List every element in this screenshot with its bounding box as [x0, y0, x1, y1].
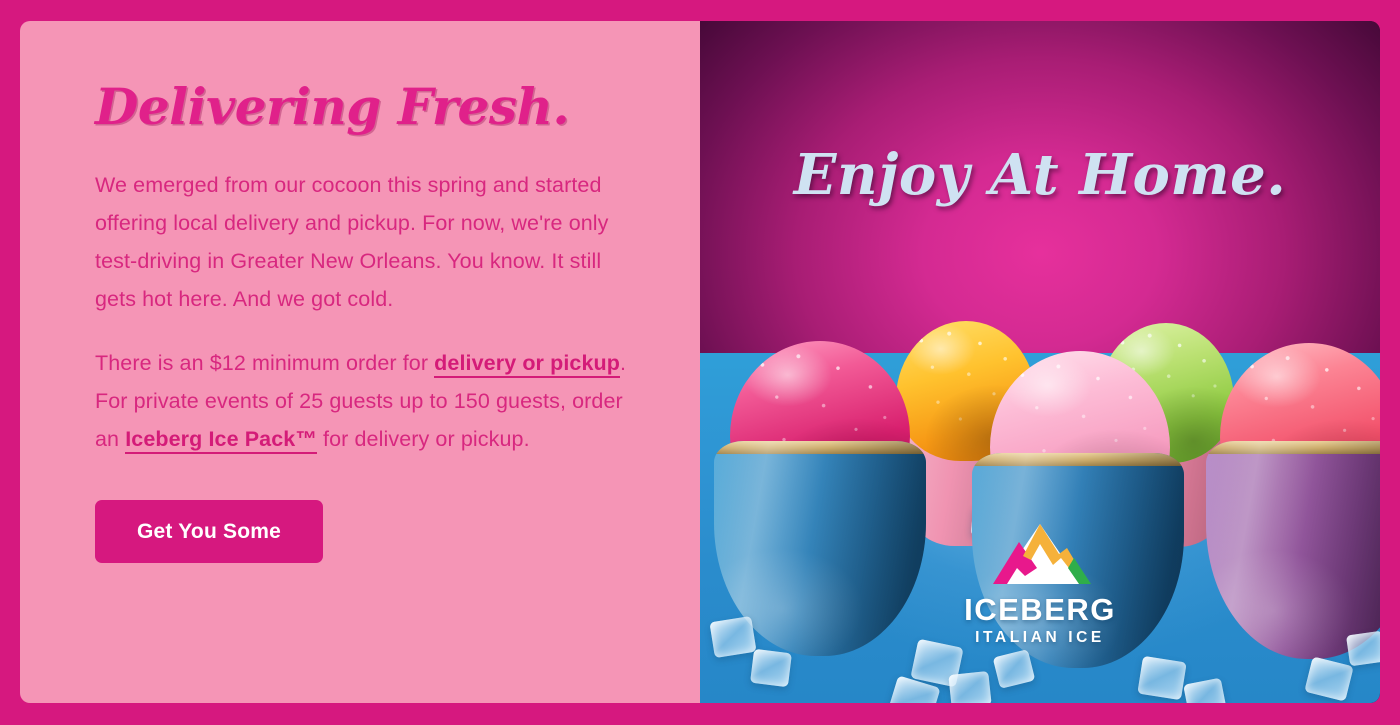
ice-cube	[1346, 631, 1380, 667]
order-details-paragraph: There is an $12 minimum order for delive…	[95, 344, 635, 458]
iceberg-ice-pack-link[interactable]: Iceberg Ice Pack™	[125, 427, 317, 454]
delivery-or-pickup-link[interactable]: delivery or pickup	[434, 351, 620, 378]
photo-headline: Enjoy At Home.	[700, 147, 1380, 203]
ice-cube	[1183, 678, 1227, 703]
promo-banner: Delivering Fresh. We emerged from our co…	[0, 0, 1400, 725]
mountain-icon	[975, 518, 1105, 590]
get-you-some-button[interactable]: Get You Some	[95, 500, 323, 563]
ice-cube	[948, 671, 991, 703]
ice-cube	[1304, 656, 1353, 701]
brand-name: ICEBERG	[950, 594, 1130, 625]
intro-paragraph: We emerged from our cocoon this spring a…	[95, 166, 635, 318]
ice-cube	[993, 649, 1036, 689]
order-text-part-1: There is an $12 minimum order for	[95, 351, 434, 375]
page-title: Delivering Fresh.	[95, 81, 640, 134]
photo-panel: Enjoy At Home.	[700, 21, 1380, 703]
copy-panel: Delivering Fresh. We emerged from our co…	[20, 21, 700, 703]
ice-cube	[1137, 656, 1186, 700]
cta-row: Get You Some	[95, 500, 640, 563]
bowl-front-right	[1206, 441, 1380, 659]
ice-cube	[750, 649, 792, 687]
brand-subtitle: ITALIAN ICE	[950, 630, 1130, 646]
brand-logo: ICEBERG ITALIAN ICE	[950, 518, 1130, 646]
ice-cube	[709, 616, 756, 658]
order-text-part-3: for delivery or pickup.	[317, 427, 530, 451]
